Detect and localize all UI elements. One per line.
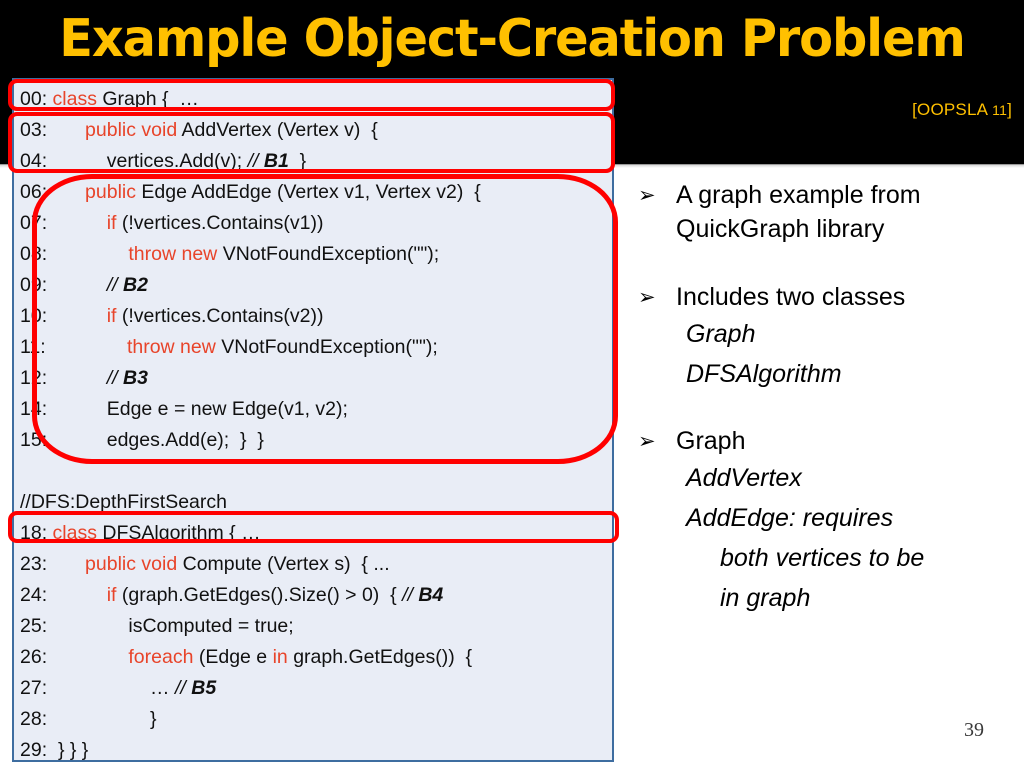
line-indent [47,553,85,575]
code-line: 23: public void Compute (Vertex s) { ... [14,549,612,580]
arrow-bullet-icon: ➢ [638,280,676,314]
code-keyword: throw new [127,336,221,358]
code-text: AddVertex (Vertex v) { [182,119,378,141]
code-line-list: 00: class Graph { …03: public void AddVe… [14,84,612,766]
code-text: } } } [53,739,89,761]
code-text: } [150,708,157,730]
code-text: (graph.GetEdges().Size() > 0) { [122,584,402,606]
code-line: //DFS:DepthFirstSearch [14,487,612,518]
code-comment: // B3 [107,367,148,389]
code-keyword: throw new [128,243,222,265]
arrow-bullet-icon: ➢ [638,178,676,212]
code-line: 14: Edge e = new Edge(v1, v2); [14,394,612,425]
line-indent [47,367,107,389]
code-text: VNotFoundException(""); [223,243,440,265]
line-indent [47,677,150,699]
code-comment: // B4 [402,584,443,606]
code-comment: // B5 [175,677,216,699]
code-keyword: public void [85,553,183,575]
code-text: VNotFoundException(""); [221,336,438,358]
line-indent [47,305,107,327]
line-number: 26: [20,646,47,668]
line-number: 27: [20,677,47,699]
code-keyword: public void [85,119,181,141]
code-line: 03: public void AddVertex (Vertex v) { [14,115,612,146]
code-keyword: public [85,181,141,203]
bullet-text: Includes two classes [676,280,1018,314]
line-number: 10: [20,305,47,327]
code-panel: 00: class Graph { …03: public void AddVe… [12,78,614,762]
bullet-item: ➢A graph example from QuickGraph library [638,178,1018,246]
code-comment: // B2 [107,274,148,296]
code-text: DFSAlgorithm { … [102,522,260,544]
code-line: 09: // B2 [14,270,612,301]
line-number: 18: [20,522,47,544]
code-text: Graph { … [102,88,198,110]
bullet-item: ➢Includes two classes [638,280,1018,314]
code-text: (Edge e [199,646,273,668]
code-line [14,456,612,487]
code-keyword: in [273,646,294,668]
bullet-gap [638,246,1018,280]
bullet-sub-item: DFSAlgorithm [638,354,1018,394]
line-indent [47,274,107,296]
bullet-text: A graph example from QuickGraph library [676,178,1018,246]
line-number: 11: [20,336,46,358]
code-line: 06: public Edge AddEdge (Vertex v1, Vert… [14,177,612,208]
line-indent [47,398,107,420]
code-text: Edge AddEdge (Vertex v1, Vertex v2) { [141,181,480,203]
code-keyword: if [107,212,122,234]
line-number: 14: [20,398,47,420]
bullet-list: ➢A graph example from QuickGraph library… [638,178,1018,618]
line-number: 29: [20,739,47,761]
bullet-sub-item: AddVertex [638,458,1018,498]
code-line: 08: throw new VNotFoundException(""); [14,239,612,270]
code-keyword: if [107,305,122,327]
code-keyword: if [107,584,122,606]
line-number: 07: [20,212,47,234]
code-text: (!vertices.Contains(v1)) [122,212,324,234]
code-text: //DFS:DepthFirstSearch [20,491,227,513]
bullet-sub-item: in graph [638,578,1018,618]
line-indent [47,212,107,234]
line-indent [47,615,128,637]
code-text: Edge e = new Edge(v1, v2); [107,398,348,420]
line-number: 15: [20,429,47,451]
line-number: 03: [20,119,47,141]
code-text: graph.GetEdges()) { [293,646,472,668]
line-indent [47,429,107,451]
code-keyword: class [53,522,103,544]
code-line: 18: class DFSAlgorithm { … [14,518,612,549]
code-line: 29: } } } [14,735,612,766]
bullet-sub-item: AddEdge: requires [638,498,1018,538]
code-text: Compute (Vertex s) { ... [183,553,390,575]
code-line: 12: // B3 [14,363,612,394]
code-line: 27: … // B5 [14,673,612,704]
line-number: 24: [20,584,47,606]
code-line: 25: isComputed = true; [14,611,612,642]
bullet-sub-item: both vertices to be [638,538,1018,578]
code-text: … [150,677,175,699]
slide: Example Object-Creation Problem [OOPSLA … [0,0,1024,768]
line-indent [47,181,85,203]
code-line: 11: throw new VNotFoundException(""); [14,332,612,363]
line-number: 00: [20,88,47,110]
code-line: 24: if (graph.GetEdges().Size() > 0) { /… [14,580,612,611]
line-number: 06: [20,181,47,203]
line-indent [47,584,107,606]
code-text: edges.Add(e); } } [107,429,264,451]
code-line: 04: vertices.Add(v); // B1 } [14,146,612,177]
line-number: 28: [20,708,47,730]
code-text: isComputed = true; [128,615,293,637]
code-keyword: class [53,88,103,110]
code-line: 00: class Graph { … [14,84,612,115]
code-line: 10: if (!vertices.Contains(v2)) [14,301,612,332]
bullet-sub-item: Graph [638,314,1018,354]
citation-year: 11 [992,102,1007,118]
line-indent [47,119,85,141]
code-text: (!vertices.Contains(v2)) [122,305,324,327]
line-number: 23: [20,553,47,575]
page-title: Example Object-Creation Problem [26,6,999,72]
bullet-item: ➢Graph [638,424,1018,458]
code-text: vertices.Add(v); [107,150,248,172]
line-indent [47,646,128,668]
code-line: 07: if (!vertices.Contains(v1)) [14,208,612,239]
line-indent [47,150,107,172]
citation-prefix: [OOPSLA [912,100,992,119]
line-number: 12: [20,367,47,389]
code-keyword: foreach [128,646,198,668]
code-line: 26: foreach (Edge e in graph.GetEdges())… [14,642,612,673]
bullet-text: Graph [676,424,1018,458]
code-line: 15: edges.Add(e); } } [14,425,612,456]
bullet-gap [638,394,1018,424]
citation-label: [OOPSLA 11] [912,100,1012,120]
line-number: 09: [20,274,47,296]
line-number: 25: [20,615,47,637]
line-indent [47,708,150,730]
line-number: 04: [20,150,47,172]
code-comment: // B1 [248,150,289,172]
citation-suffix: ] [1007,100,1012,119]
line-number: 08: [20,243,47,265]
code-line: 28: } [14,704,612,735]
line-indent [46,336,127,358]
line-indent [47,243,128,265]
code-text: } [289,150,306,172]
page-number: 39 [964,719,984,742]
arrow-bullet-icon: ➢ [638,424,676,458]
